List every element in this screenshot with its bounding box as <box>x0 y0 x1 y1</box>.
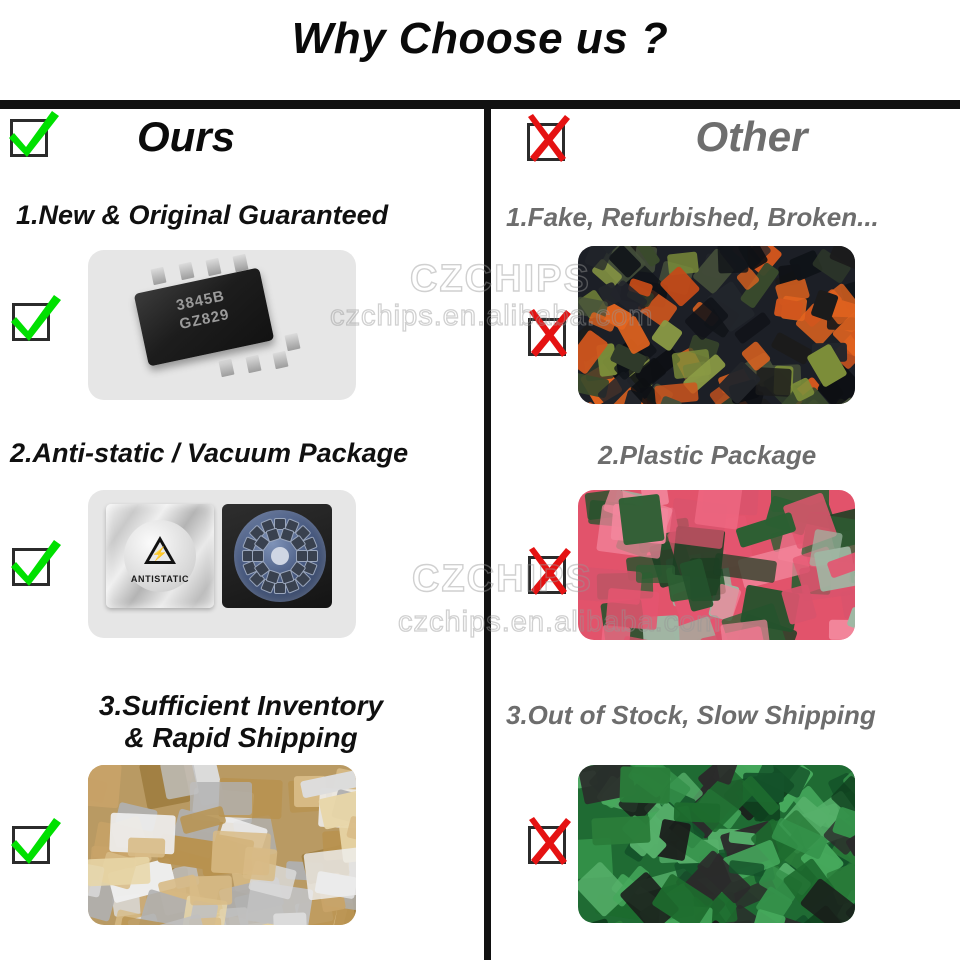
chip-marking-text: 3845B GZ829 <box>136 279 269 342</box>
row-3-label-other: 3.Out of Stock, Slow Shipping <box>506 700 958 730</box>
row-1-image-other <box>578 246 855 404</box>
column-title-ours: Ours <box>0 113 428 161</box>
row-2-check-icon <box>8 540 60 592</box>
row-3-label-ours: 3.Sufficient Inventory & Rapid Shipping <box>16 690 466 755</box>
row-3-image-ours <box>88 765 356 925</box>
header-rule <box>0 100 960 109</box>
row-2-label-ours: 2.Anti-static / Vacuum Package <box>10 438 480 469</box>
row-1-image-ours: 3845B GZ829 <box>88 250 356 400</box>
page-title: Why Choose us ? <box>0 14 960 64</box>
column-header-ours: Ours <box>0 109 484 171</box>
row-1-label-ours: 1.New & Original Guaranteed <box>16 200 476 231</box>
row-1-cross-icon <box>524 310 576 362</box>
watermark-brand: CZCHIPS <box>410 258 591 301</box>
row-1-check-icon <box>8 295 60 347</box>
row-3-image-other <box>578 765 855 923</box>
row-3-cross-icon <box>524 818 576 870</box>
column-title-other: Other <box>517 113 960 161</box>
comparison-infographic: Why Choose us ? Ours Other 1.New & Origi… <box>0 0 960 960</box>
row-2-label-other: 2.Plastic Package <box>598 440 958 470</box>
column-divider <box>484 109 491 960</box>
antistatic-label-text: ANTISTATIC <box>124 574 196 584</box>
row-2-cross-icon <box>524 548 576 600</box>
column-header-other: Other <box>491 109 960 171</box>
row-3-check-icon <box>8 818 60 870</box>
row-1-label-other: 1.Fake, Refurbished, Broken... <box>506 202 956 232</box>
component-reel-tray <box>222 504 332 608</box>
row-2-image-other <box>578 490 855 640</box>
antistatic-bag: ⚡ ANTISTATIC <box>106 504 214 608</box>
row-2-image-ours: ⚡ ANTISTATIC <box>88 490 356 638</box>
